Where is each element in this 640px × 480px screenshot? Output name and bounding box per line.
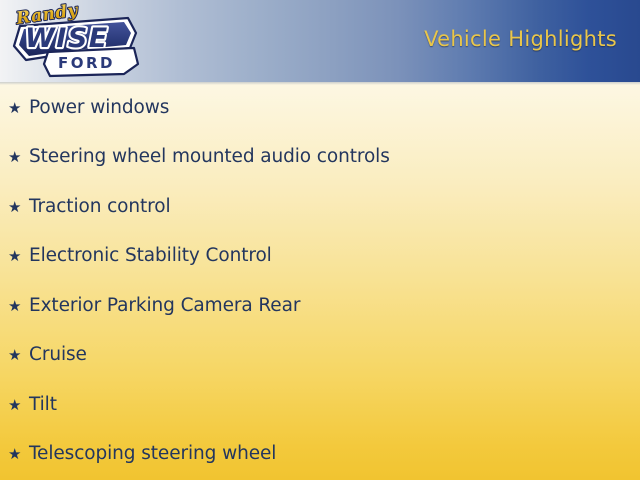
list-item: ★Power windows (8, 95, 169, 121)
svg-text:FORD: FORD (58, 54, 115, 72)
list-item: ★Electronic Stability Control (8, 244, 272, 270)
star-icon: ★ (8, 348, 29, 363)
star-icon: ★ (8, 150, 29, 165)
list-item: ★Traction control (8, 194, 171, 220)
list-item: ★Exterior Parking Camera Rear (8, 293, 300, 319)
list-item: ★Cruise (8, 343, 87, 369)
star-icon: ★ (8, 249, 29, 264)
list-item: ★Tilt (8, 392, 57, 418)
page-title: Vehicle Highlights (424, 27, 617, 51)
star-icon: ★ (8, 200, 29, 215)
feature-label: Steering wheel mounted audio controls (29, 147, 390, 167)
header-bar: WISE FORD Randy Vehicle Highlights (0, 0, 640, 82)
feature-label: Exterior Parking Camera Rear (29, 296, 300, 316)
list-item: ★Telescoping steering wheel (8, 442, 276, 468)
logo-ford-banner: FORD (44, 48, 138, 76)
feature-label: Cruise (29, 345, 87, 365)
star-icon: ★ (8, 447, 29, 462)
feature-label: Tilt (29, 395, 57, 415)
star-icon: ★ (8, 299, 29, 314)
feature-label: Traction control (29, 197, 171, 217)
randy-wise-ford-logo: WISE FORD Randy (4, 2, 140, 80)
list-item: ★Steering wheel mounted audio controls (8, 145, 390, 171)
star-icon: ★ (8, 101, 29, 116)
feature-label: Power windows (29, 98, 169, 118)
star-icon: ★ (8, 398, 29, 413)
feature-label: Electronic Stability Control (29, 246, 272, 266)
vehicle-highlights-list: ★Power windows★Steering wheel mounted au… (0, 82, 640, 480)
vehicle-highlights-slide: WISE FORD Randy Vehicle Highlights ★Powe… (0, 0, 640, 480)
feature-label: Telescoping steering wheel (29, 444, 276, 464)
